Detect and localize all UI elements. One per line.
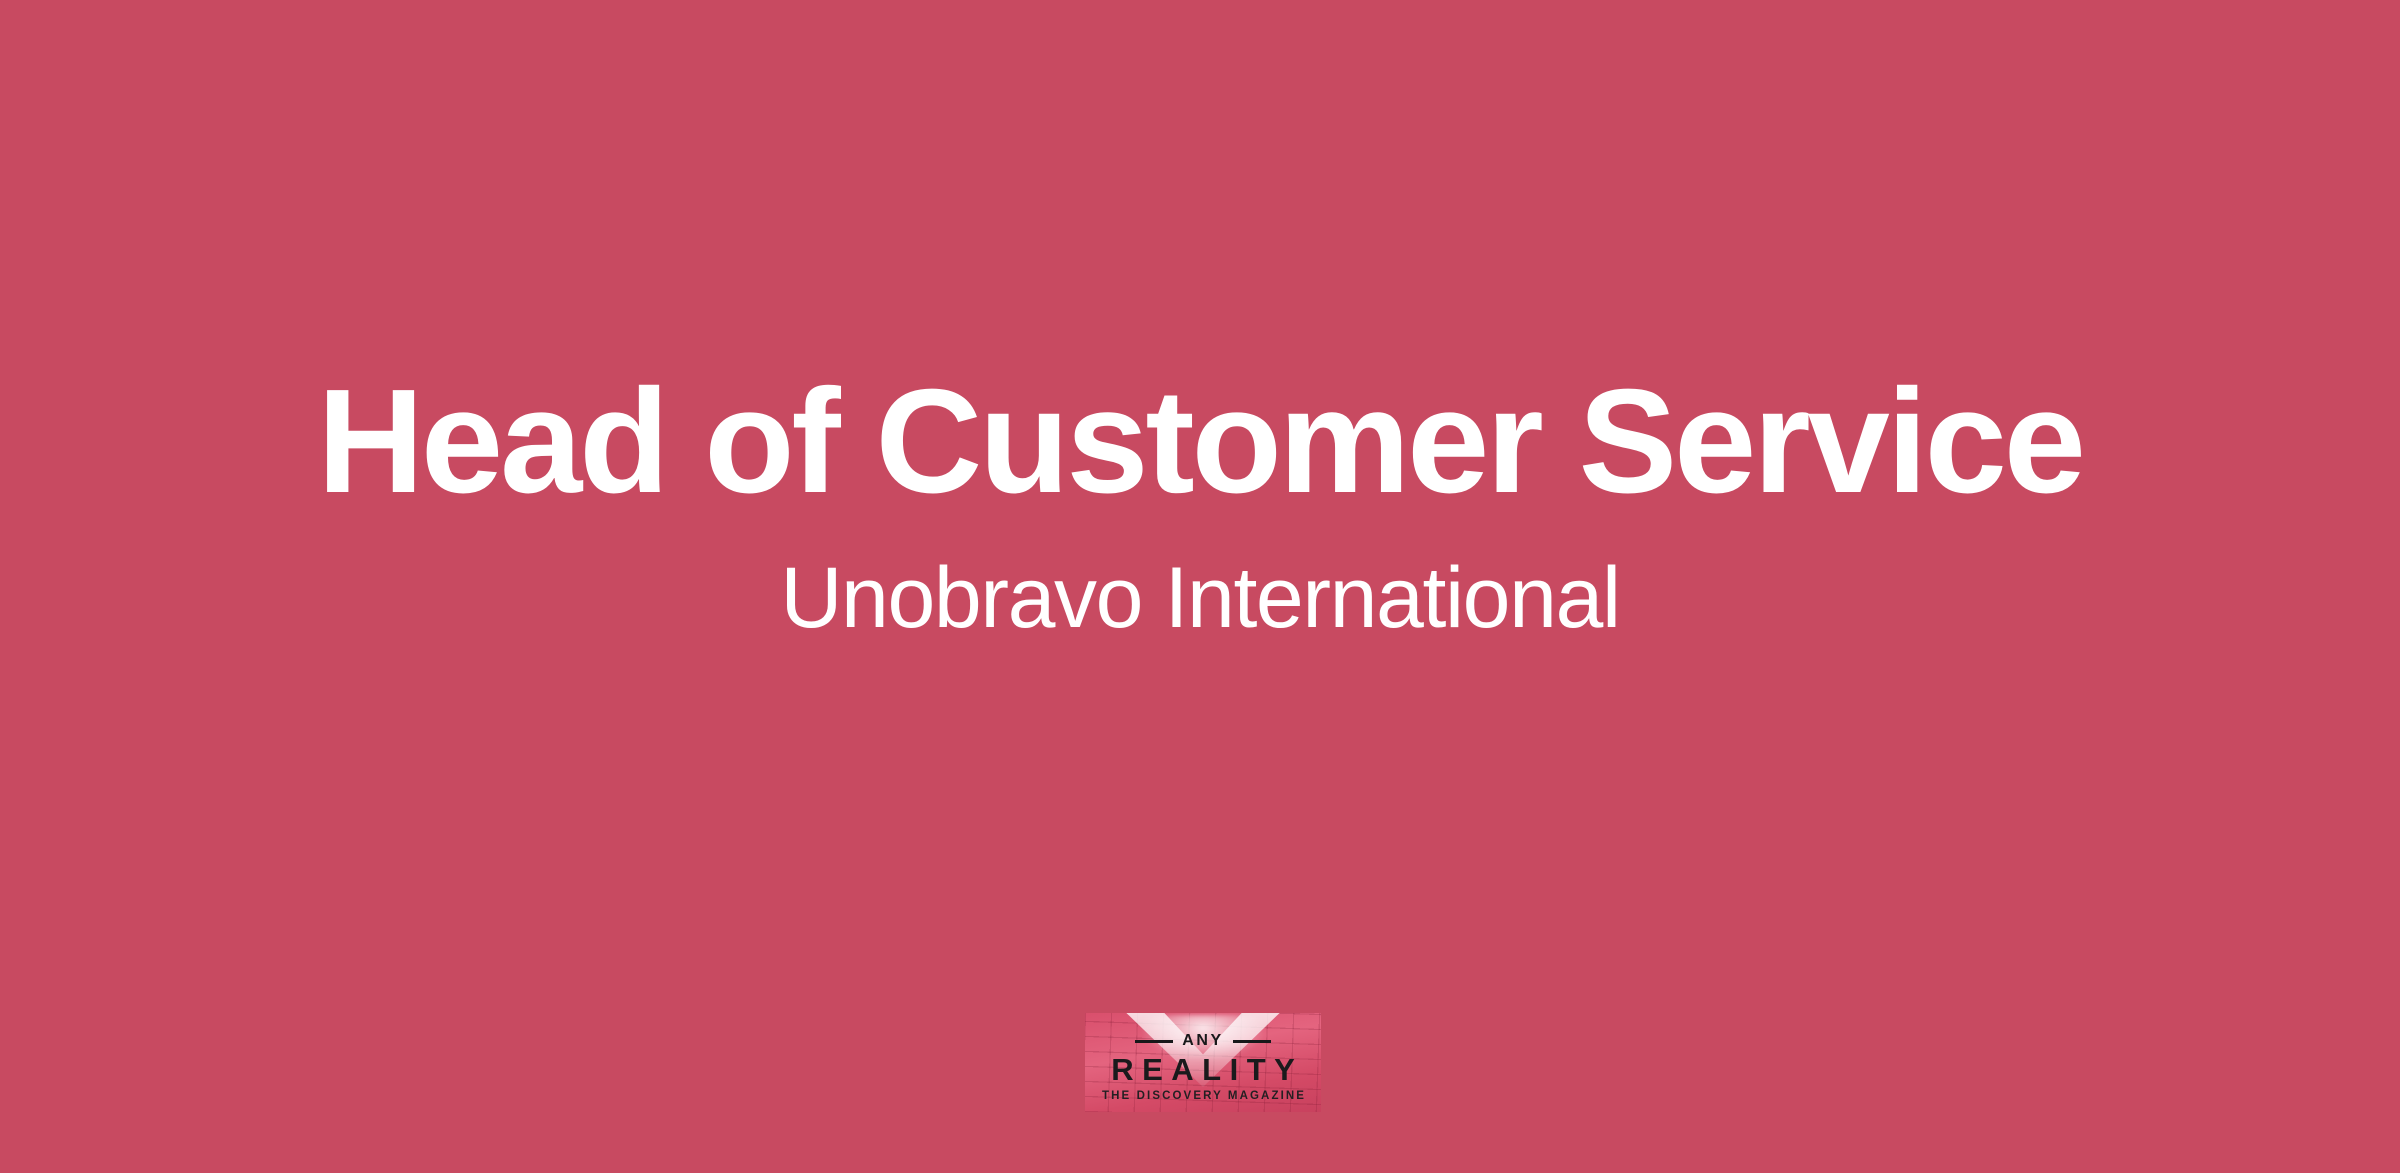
any-reality-logo[interactable]: ANY REALITY THE DISCOVERY MAGAZINE [1085, 1013, 1321, 1112]
company-name: Unobravo International [780, 555, 1619, 641]
logo-text-lockup: ANY REALITY THE DISCOVERY MAGAZINE [1085, 1013, 1321, 1112]
logo-wordmark: REALITY [1085, 1054, 1321, 1085]
logo-kicker: ANY [1182, 1033, 1224, 1049]
logo-rule-right-icon [1233, 1040, 1271, 1043]
job-posting-card: Head of Customer Service Unobravo Intern… [0, 0, 2400, 1173]
hero-text-block: Head of Customer Service Unobravo Intern… [0, 0, 2400, 1173]
page-title: Head of Customer Service [317, 368, 2083, 516]
logo-rule-left-icon [1135, 1040, 1173, 1043]
logo-kicker-row: ANY [1085, 1033, 1321, 1049]
logo-tagline: THE DISCOVERY MAGAZINE [1085, 1091, 1321, 1103]
